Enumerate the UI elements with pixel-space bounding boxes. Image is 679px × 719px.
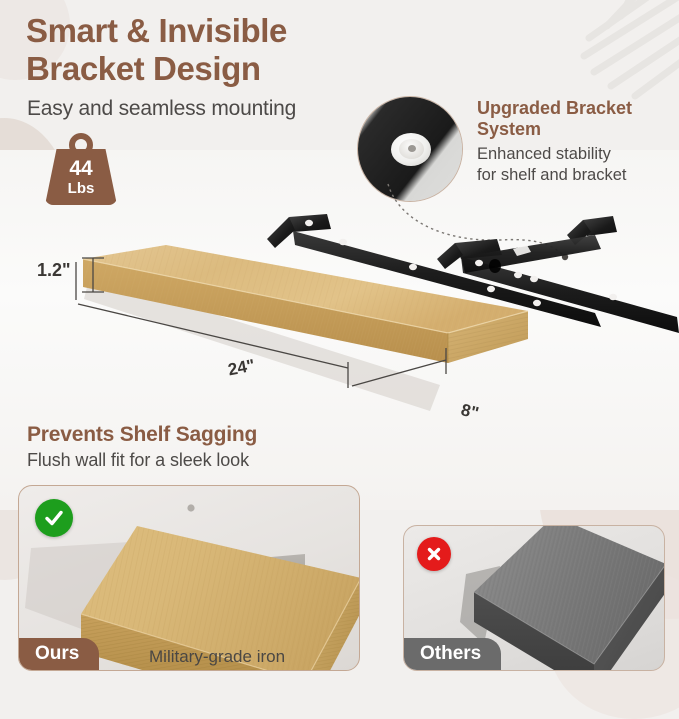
comparison-panel-others: Others	[403, 525, 665, 671]
infographic-canvas: Smart & Invisible Bracket Design Easy an…	[0, 0, 679, 679]
comparison-panel-ours: Ours Military-grade iron	[18, 485, 360, 671]
sagging-section-subtitle: Flush wall fit for a sleek look	[27, 450, 249, 471]
check-glyph	[43, 507, 65, 529]
check-icon	[35, 499, 73, 537]
callout-description-line-1: Enhanced stability	[477, 144, 679, 165]
callout-description-line-2: for shelf and bracket	[477, 165, 679, 186]
page-title: Smart & Invisible Bracket Design	[26, 12, 287, 89]
cross-icon	[417, 537, 451, 571]
weight-value: 44	[45, 157, 117, 181]
screw-cap-center-icon	[408, 145, 416, 152]
title-line-2: Bracket Design	[26, 50, 287, 88]
page-subtitle: Easy and seamless mounting	[27, 97, 296, 121]
others-badge: Others	[404, 638, 501, 670]
weight-capacity-badge: 44 Lbs	[45, 133, 117, 205]
weight-unit: Lbs	[45, 180, 117, 197]
ours-badge: Ours	[19, 638, 99, 670]
thickness-label: 1.2"	[37, 260, 71, 281]
callout-title: Upgraded Bracket System	[477, 98, 677, 139]
title-line-1: Smart & Invisible	[26, 12, 287, 50]
sagging-section-title: Prevents Shelf Sagging	[27, 423, 257, 447]
ours-caption: Military-grade iron	[149, 647, 285, 667]
cross-glyph	[424, 544, 444, 564]
callout-description: Enhanced stability for shelf and bracket	[477, 144, 679, 187]
